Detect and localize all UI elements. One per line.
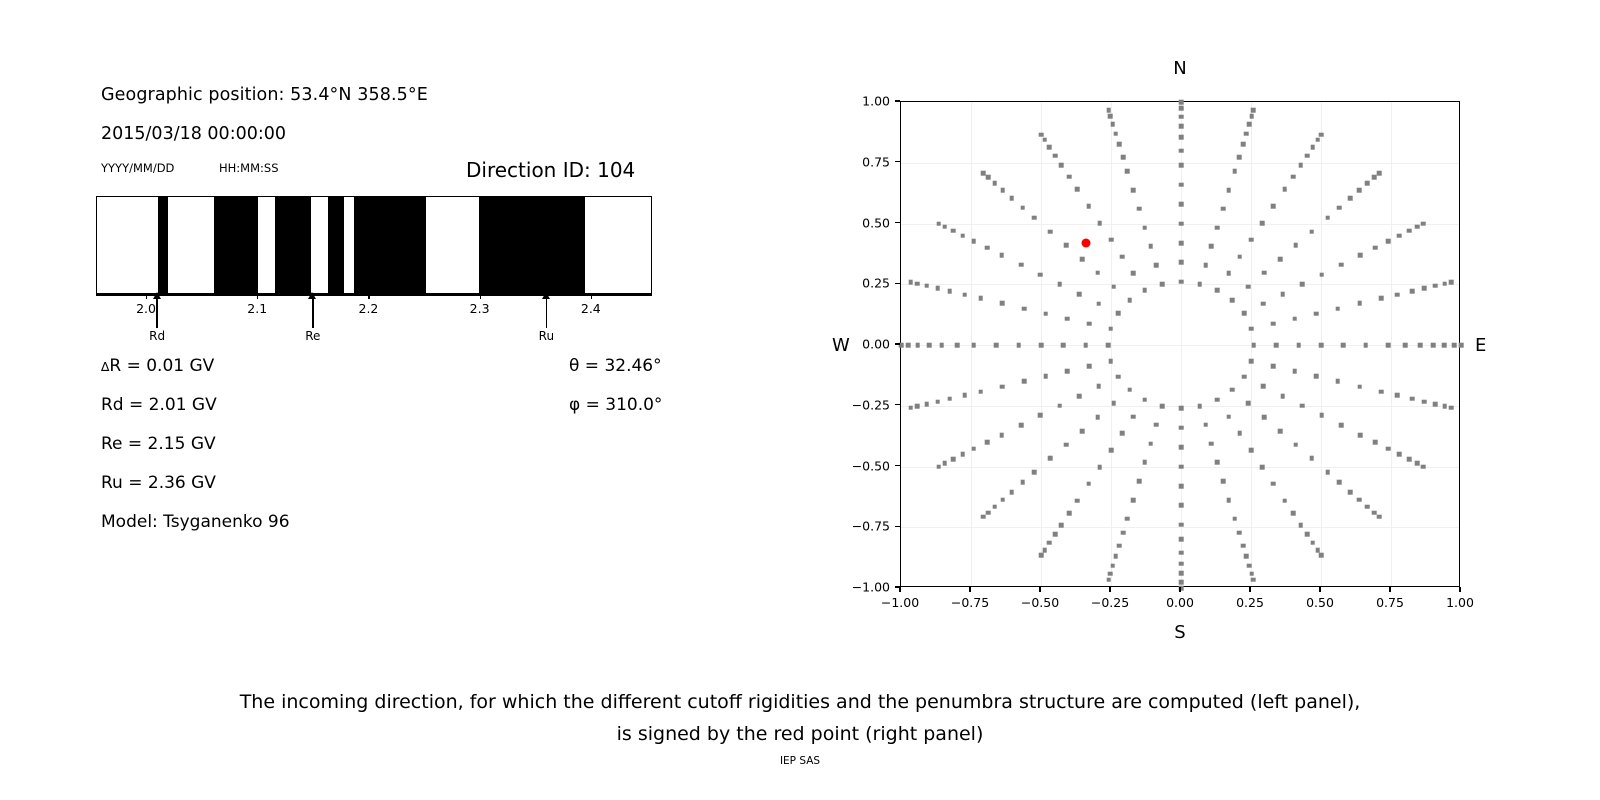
x-tick-mark [899, 587, 900, 592]
x-tick-mark [969, 587, 970, 592]
y-tick-mark [895, 100, 900, 101]
footer-credit: IEP SAS [0, 755, 1600, 767]
x-tick-label: 0.75 [1376, 595, 1404, 610]
theta-value: θ = 32.46° [569, 356, 662, 376]
model-label: Model: Tsyganenko 96 [101, 512, 290, 532]
y-tick-label: −0.25 [838, 397, 890, 412]
x-tick-label: −0.75 [951, 595, 989, 610]
ru-value: Ru = 2.36 GV [101, 473, 216, 493]
y-tick-mark [895, 222, 900, 223]
penumbra-marker-arrow [546, 297, 548, 328]
rd-value: Rd = 2.01 GV [101, 395, 217, 415]
penumbra-marker-arrow [156, 297, 158, 328]
sky-map-axis-labels: −1.00−0.75−0.50−0.250.000.250.500.751.00… [820, 40, 1520, 660]
x-tick-mark [1389, 587, 1390, 592]
penumbra-marker-label: Ru [539, 329, 554, 343]
y-tick-mark [895, 161, 900, 162]
phi-value: φ = 310.0° [569, 395, 662, 415]
x-tick-label: −1.00 [881, 595, 919, 610]
y-tick-label: 0.25 [838, 276, 890, 291]
figure-caption: The incoming direction, for which the di… [0, 686, 1600, 750]
right-panel: N S W E −1.00−0.75−0.50−0.250.000.250.50… [820, 40, 1520, 660]
y-tick-label: 0.00 [838, 337, 890, 352]
x-tick-mark [1249, 587, 1250, 592]
y-tick-mark [895, 526, 900, 527]
x-tick-mark [1109, 587, 1110, 592]
x-tick-label: 0.25 [1236, 595, 1264, 610]
left-panel: Geographic position: 53.4°N 358.5°E 2015… [0, 0, 720, 660]
x-tick-label: −0.50 [1021, 595, 1059, 610]
x-tick-mark [1459, 587, 1460, 592]
y-tick-mark [895, 465, 900, 466]
y-tick-label: −0.75 [838, 519, 890, 534]
penumbra-marker-arrow [312, 297, 314, 328]
caption-line-1: The incoming direction, for which the di… [0, 686, 1600, 718]
x-tick-mark [1319, 587, 1320, 592]
penumbra-marker-arrowhead [153, 292, 161, 299]
figure-root: Geographic position: 53.4°N 358.5°E 2015… [0, 0, 1600, 800]
x-tick-mark [1039, 587, 1040, 592]
y-tick-label: 0.75 [838, 154, 890, 169]
y-tick-label: −1.00 [838, 580, 890, 595]
x-tick-mark [1179, 587, 1180, 592]
y-tick-mark [895, 283, 900, 284]
caption-line-2: is signed by the red point (right panel) [0, 718, 1600, 750]
penumbra-marker-label: Re [305, 329, 320, 343]
delta-r-value: ∆R = 0.01 GV [101, 356, 214, 376]
y-tick-mark [895, 404, 900, 405]
penumbra-marker-label: Rd [149, 329, 165, 343]
x-tick-label: 0.50 [1306, 595, 1334, 610]
y-tick-label: −0.50 [838, 458, 890, 473]
x-tick-label: 0.00 [1166, 595, 1194, 610]
penumbra-marker-group: RdReRu [0, 0, 720, 360]
x-tick-label: −0.25 [1091, 595, 1129, 610]
y-tick-mark [895, 343, 900, 344]
y-tick-label: 1.00 [838, 94, 890, 109]
y-tick-label: 0.50 [838, 215, 890, 230]
x-tick-label: 1.00 [1446, 595, 1474, 610]
re-value: Re = 2.15 GV [101, 434, 216, 454]
penumbra-marker-arrowhead [542, 292, 550, 299]
penumbra-marker-arrowhead [308, 292, 316, 299]
